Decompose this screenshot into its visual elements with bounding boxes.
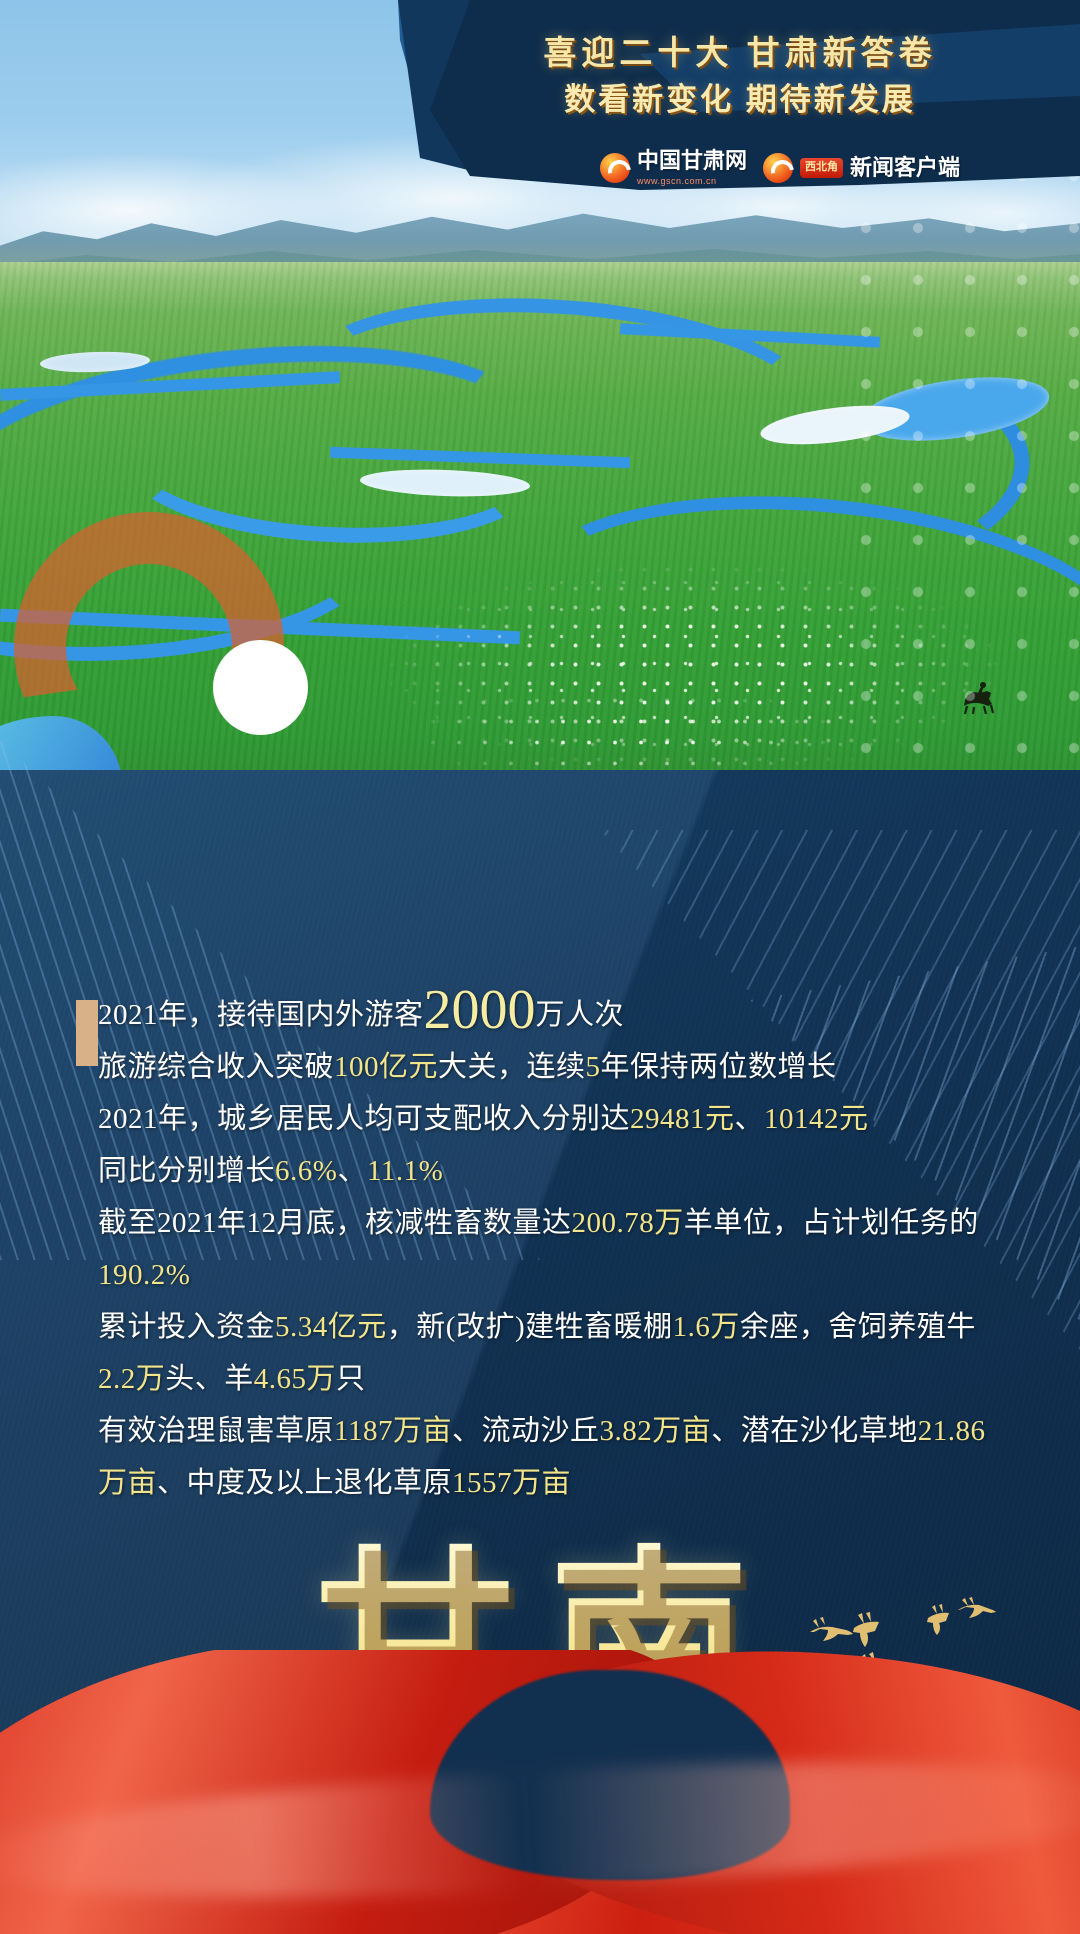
- stat-segment-plain: 、中度及以上退化草原: [157, 1467, 452, 1499]
- stat-segment-plain: 、: [735, 1103, 765, 1135]
- stat-segment-num: 1.6: [673, 1311, 711, 1343]
- statistics-lines: 2021年，接待国内外游客2000万人次旅游综合收入突破100亿元大关，连续5年…: [98, 988, 998, 1509]
- logo-news-client-badge: 西北角: [800, 158, 843, 178]
- stat-segment-plain: 羊单位，占计划任务的: [684, 1207, 979, 1239]
- stat-segment-big: 2000: [424, 979, 536, 1041]
- publisher-logos: 中国甘肃网 www.gscn.com.cn 西北角 新闻客户端: [600, 150, 1060, 186]
- logo-gansu-net-label: 中国甘肃网: [637, 148, 747, 173]
- stat-segment-num: 29481: [630, 1103, 705, 1135]
- stat-segment-plain: 累计投入资金: [98, 1311, 275, 1343]
- stat-segment-plain: 只: [336, 1363, 366, 1395]
- stat-segment-num: 万亩: [512, 1467, 571, 1499]
- red-silk-ribbon: [0, 1650, 1080, 1934]
- stat-segment-plain: 大关，连续: [438, 1051, 586, 1083]
- stat-segment-plain: 年保持两位数增长: [601, 1051, 837, 1083]
- stat-segment-plain: 2021年，城乡居民人均可支配收入分别达: [98, 1103, 630, 1135]
- stat-segment-num: 万: [136, 1363, 166, 1395]
- stat-segment-num: 100: [334, 1051, 379, 1083]
- logo-news-client-label: 新闻客户端: [850, 157, 960, 179]
- stat-segment-num: 4.65: [254, 1363, 307, 1395]
- stat-segment-num: 亿元: [328, 1311, 387, 1343]
- stat-segment-num: 元: [839, 1103, 869, 1135]
- stat-segment-num: 万亩: [652, 1415, 711, 1447]
- stat-segment-plain: 、潜在沙化草地: [711, 1415, 918, 1447]
- stat-segment-plain: 、流动沙丘: [452, 1415, 600, 1447]
- stat-line-investment-shelters: 累计投入资金5.34亿元，新(改扩)建牲畜暖棚1.6万余座，舍饲养殖牛2.2万头…: [98, 1301, 998, 1405]
- stat-segment-plain: 万人次: [536, 999, 625, 1031]
- stat-segment-num: 1557: [452, 1467, 512, 1499]
- stat-segment-plain: 余座，舍饲养殖牛: [740, 1311, 976, 1343]
- stat-segment-num: 200.78: [572, 1207, 655, 1239]
- stat-segment-num: 1187: [334, 1415, 393, 1447]
- stat-segment-num: 元: [705, 1103, 735, 1135]
- xibeijiao-logo-icon: [763, 153, 793, 183]
- stat-segment-num: 5: [586, 1051, 601, 1083]
- stat-segment-plain: 旅游综合收入突破: [98, 1051, 334, 1083]
- stat-segment-num: 万亩: [98, 1467, 157, 1499]
- stat-segment-num: 2.2: [98, 1363, 136, 1395]
- stat-segment-num: 21.86: [918, 1415, 986, 1447]
- stat-line-income-growth: 同比分别增长6.6%、11.1%: [98, 1145, 998, 1197]
- stat-segment-num: 万: [710, 1311, 740, 1343]
- stat-segment-num: 11.1%: [367, 1155, 443, 1187]
- stat-line-tourists: 2021年，接待国内外游客2000万人次: [98, 988, 998, 1041]
- stat-segment-plain: 同比分别增长: [98, 1155, 275, 1187]
- stat-segment-num: 亿元: [379, 1051, 438, 1083]
- accent-bar: [76, 1000, 98, 1066]
- statistics-block: 2021年，接待国内外游客2000万人次旅游综合收入突破100亿元大关，连续5年…: [98, 988, 998, 1509]
- stat-segment-plain: 头、羊: [165, 1363, 254, 1395]
- white-circle-decor: [213, 640, 308, 735]
- header-title-line1: 喜迎二十大 甘肃新答卷: [430, 26, 1050, 74]
- gansu-net-logo-icon: [600, 153, 630, 183]
- logo-gansu-net[interactable]: 中国甘肃网 www.gscn.com.cn: [600, 150, 747, 186]
- stat-segment-num: 10142: [764, 1103, 839, 1135]
- stat-segment-plain: 有效治理鼠害草原: [98, 1415, 334, 1447]
- stat-segment-plain: 2021年，接待国内外游客: [98, 999, 424, 1031]
- stat-line-tourism-income: 旅游综合收入突破100亿元大关，连续5年保持两位数增长: [98, 1041, 998, 1093]
- stat-segment-num: 6.6%: [275, 1155, 337, 1187]
- stat-segment-num: 万亩: [393, 1415, 452, 1447]
- stat-line-grassland-treatment: 有效治理鼠害草原1187万亩、流动沙丘3.82万亩、潜在沙化草地21.86万亩、…: [98, 1405, 998, 1509]
- stat-line-disposable-income: 2021年，城乡居民人均可支配收入分别达29481元、10142元: [98, 1093, 998, 1145]
- header-title-line2: 数看新变化 期待新发展: [430, 74, 1050, 119]
- header-banner: 喜迎二十大 甘肃新答卷 数看新变化 期待新发展 中国甘肃网 www.gscn.c…: [0, 0, 1080, 210]
- stat-segment-num: 万: [654, 1207, 684, 1239]
- stat-segment-num: 3.82: [599, 1415, 652, 1447]
- stat-segment-num: 190.2%: [98, 1259, 190, 1291]
- stat-segment-num: 5.34: [275, 1311, 328, 1343]
- stat-segment-plain: 、: [337, 1155, 367, 1187]
- stat-segment-plain: 截至2021年12月底，核减牲畜数量达: [98, 1207, 572, 1239]
- poster-canvas: 喜迎二十大 甘肃新答卷 数看新变化 期待新发展 中国甘肃网 www.gscn.c…: [0, 0, 1080, 1934]
- stat-segment-num: 万: [307, 1363, 337, 1395]
- logo-gansu-net-url: www.gscn.com.cn: [637, 176, 747, 186]
- stat-segment-plain: ，新(改扩)建牲畜暖棚: [387, 1311, 673, 1343]
- logo-news-client[interactable]: 西北角 新闻客户端: [763, 153, 960, 183]
- stat-line-livestock-reduction: 截至2021年12月底，核减牲畜数量达200.78万羊单位，占计划任务的190.…: [98, 1197, 998, 1301]
